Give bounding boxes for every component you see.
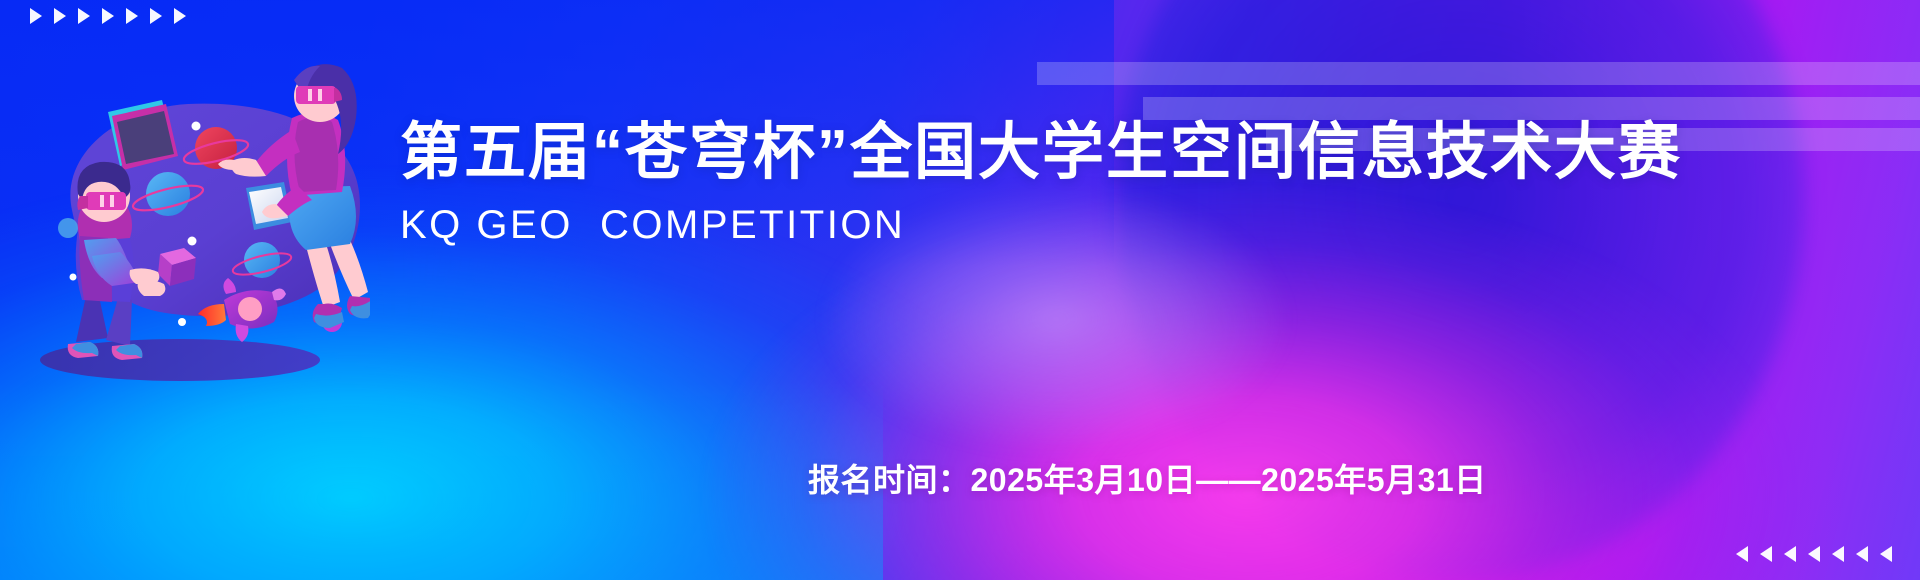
triangle-left-icon <box>1760 546 1772 562</box>
triangle-left-icon <box>1784 546 1796 562</box>
triangle-right-icon <box>54 8 66 24</box>
triangle-right-icon <box>174 8 186 24</box>
star-dot <box>192 122 201 131</box>
background-bottom-glow <box>0 383 883 580</box>
star-dot <box>58 218 78 238</box>
triangle-left-icon <box>1832 546 1844 562</box>
vr-goggles <box>86 192 126 210</box>
registration-period: 报名时间：2025年3月10日——2025年5月31日 <box>808 455 1487 501</box>
triangle-left-icon <box>1856 546 1868 562</box>
triangle-right-icon <box>150 8 162 24</box>
vr-goggles <box>296 86 336 104</box>
triangle-left-icon <box>1880 546 1892 562</box>
page-title: 第五届“苍穹杯”全国大学生空间信息技术大赛 <box>400 118 1900 187</box>
triangle-left-icon <box>1736 546 1748 562</box>
stripe-1 <box>1037 62 1920 85</box>
triangle-right-icon <box>102 8 114 24</box>
bottom-right-arrow-group <box>1736 546 1892 562</box>
triangle-right-icon <box>126 8 138 24</box>
stripe-2 <box>1143 97 1920 120</box>
star-dot <box>188 237 197 246</box>
triangle-left-icon <box>1808 546 1820 562</box>
star-dot <box>178 318 186 326</box>
star-dot <box>70 274 77 281</box>
triangle-right-icon <box>78 8 90 24</box>
competition-banner: 第五届“苍穹杯”全国大学生空间信息技术大赛 KQ GEO COMPETITION… <box>0 0 1920 580</box>
triangle-right-icon <box>30 8 42 24</box>
subtitle-english: KQ GEO COMPETITION <box>400 203 1900 247</box>
banner-text-block: 第五届“苍穹杯”全国大学生空间信息技术大赛 KQ GEO COMPETITION <box>400 118 1900 247</box>
vr-space-illustration <box>20 60 370 390</box>
top-left-arrow-group <box>30 8 186 24</box>
